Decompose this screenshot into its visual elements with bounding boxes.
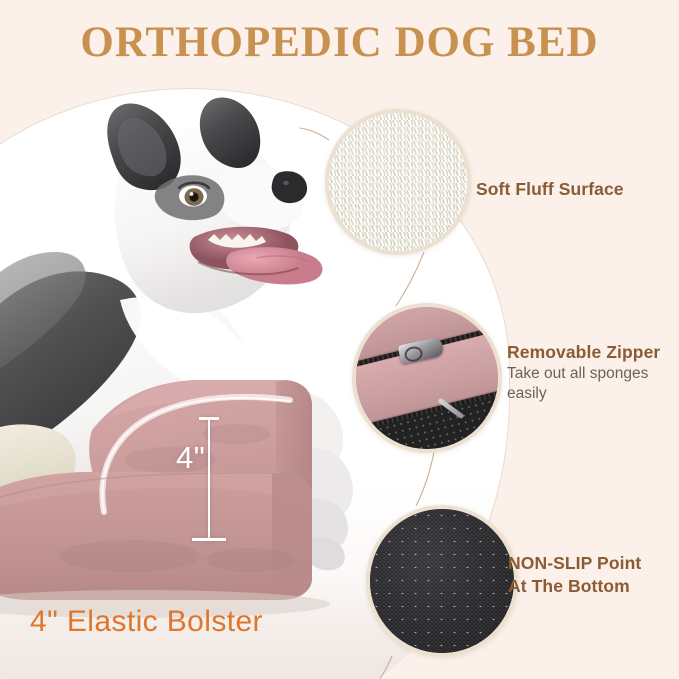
- bolster-caption: 4" Elastic Bolster: [30, 605, 263, 639]
- dimension-line: [208, 418, 210, 540]
- callout-swatch-zipper[interactable]: [352, 303, 502, 453]
- callout-heading-fluff: Soft Fluff Surface: [476, 178, 624, 201]
- callout-label-zipper: Removable Zipper Take out all sponges ea…: [507, 341, 677, 403]
- nonslip-texture-icon: [370, 509, 514, 653]
- dimension-label: 4": [176, 440, 205, 476]
- product-infographic: ORTHOPEDIC DOG BED: [0, 0, 679, 679]
- callout-swatch-fluff[interactable]: [325, 109, 471, 255]
- fluff-texture-icon: [329, 113, 467, 251]
- callout-heading-nonslip: NON-SLIP Point: [508, 552, 641, 575]
- callout-label-fluff: Soft Fluff Surface: [476, 178, 624, 201]
- callout-subtext-zipper: Take out all sponges easily: [507, 364, 677, 404]
- callout-heading-nonslip-line2: At The Bottom: [508, 575, 641, 598]
- zipper-texture-icon: [356, 307, 498, 449]
- callout-heading-zipper: Removable Zipper: [507, 341, 677, 364]
- callout-swatch-nonslip[interactable]: [366, 505, 518, 657]
- callout-label-nonslip: NON-SLIP Point At The Bottom: [508, 552, 641, 598]
- dimension-cap-bottom: [192, 538, 226, 541]
